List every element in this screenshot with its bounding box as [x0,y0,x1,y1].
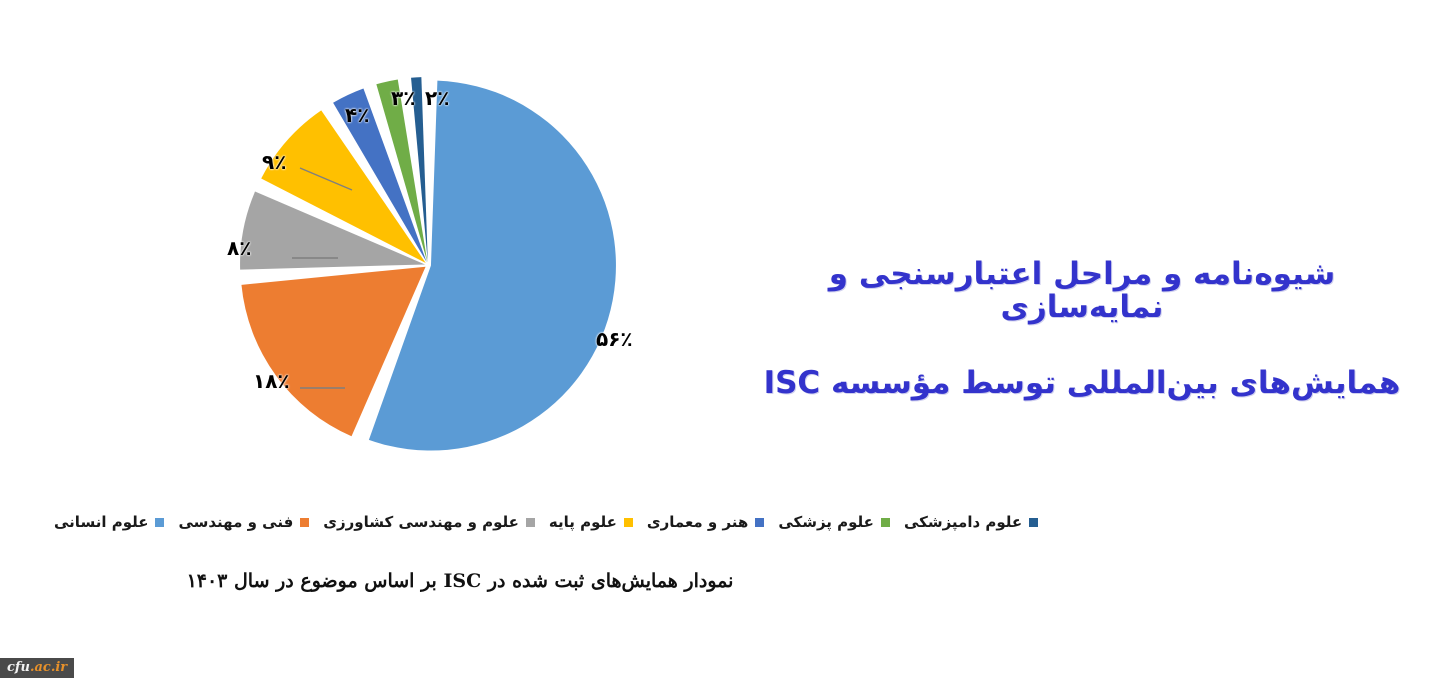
legend-item-label: علوم دامپزشکی [904,513,1022,531]
legend-item[interactable]: فنی و مهندسی [178,513,309,531]
slice-label-veterinary: ۲٪ [425,88,449,108]
legend-item-label: هنر و معماری [647,513,748,531]
legend-item-label: علوم انسانی [54,513,148,531]
legend-item[interactable]: علوم و مهندسی کشاورزی [323,513,535,531]
site-watermark: cfu.ac.ir [0,658,74,678]
legend-item-label: علوم پزشکی [778,513,874,531]
slice-label-medical: ۳٪ [391,88,415,108]
legend-item[interactable]: علوم پزشکی [778,513,890,531]
headline-block: شیوه‌نامه و مراحل اعتبارسنجی و نمایه‌ساز… [752,258,1412,400]
legend-color-swatch [624,518,633,527]
legend-color-swatch [155,518,164,527]
pie-slices-group [240,77,616,450]
slice-label-engineering: ۱۸٪ [253,371,290,391]
legend-item[interactable]: هنر و معماری [647,513,764,531]
slice-label-basic-sciences: ۹٪ [262,152,286,172]
legend-color-swatch [755,518,764,527]
legend-item[interactable]: علوم دامپزشکی [904,513,1038,531]
headline-line-2: همایش‌های بین‌المللی توسط مؤسسه ISC [752,367,1412,400]
chart-legend: علوم دامپزشکیعلوم پزشکیهنر و معماریعلوم … [0,505,940,539]
slice-label-humanities: ۵۶٪ [596,329,633,349]
legend-item-label: فنی و مهندسی [178,513,293,531]
legend-color-swatch [526,518,535,527]
legend-color-swatch [881,518,890,527]
watermark-tld: .ac.ir [30,660,67,675]
legend-item-label: علوم و مهندسی کشاورزی [323,513,519,531]
slice-label-art-architecture: ۴٪ [345,105,369,125]
headline-line-1: شیوه‌نامه و مراحل اعتبارسنجی و نمایه‌ساز… [752,258,1412,323]
chart-caption: نمودار همایش‌های ثبت شده در ISC بر اساس … [0,570,920,592]
pie-chart-graphic [170,60,730,480]
legend-item-label: علوم پایه [549,513,617,531]
legend-color-swatch [1029,518,1038,527]
legend-item[interactable]: علوم انسانی [54,513,164,531]
legend-item[interactable]: علوم پایه [549,513,633,531]
watermark-name: cfu [7,660,30,675]
legend-color-swatch [300,518,309,527]
slice-label-agriculture: ۸٪ [227,238,251,258]
